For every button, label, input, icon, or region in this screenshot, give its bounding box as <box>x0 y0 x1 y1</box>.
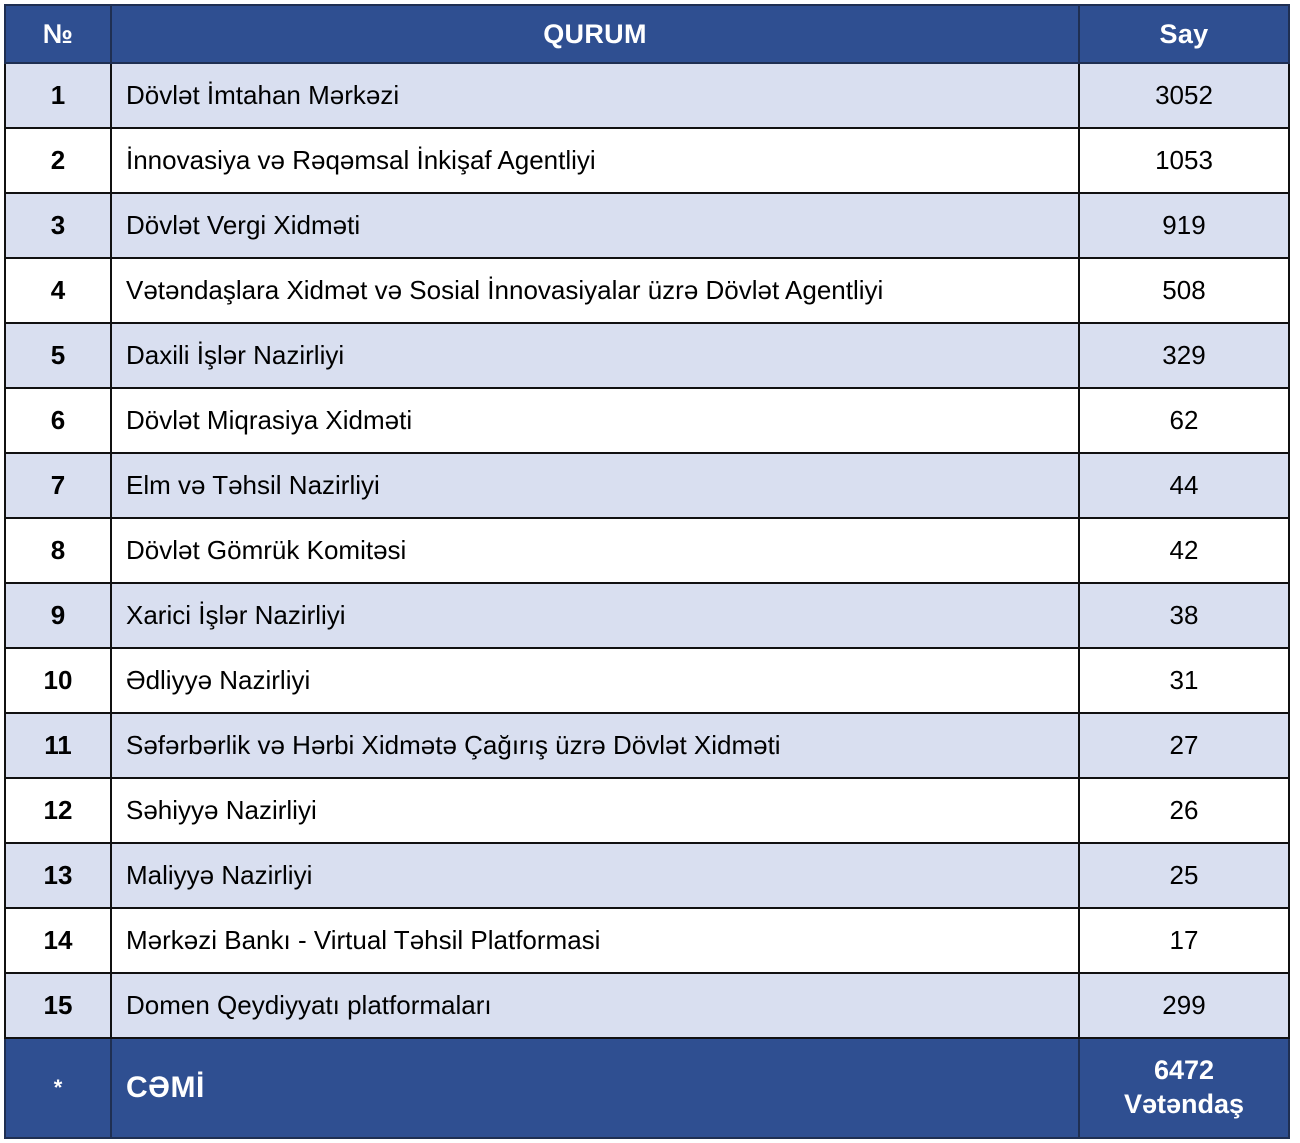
table-row: 15Domen Qeydiyyatı platformaları299 <box>5 973 1289 1038</box>
row-organization-name: Domen Qeydiyyatı platformaları <box>111 973 1079 1038</box>
table-row: 4Vətəndaşlara Xidmət və Sosial İnnovasiy… <box>5 258 1289 323</box>
table-footer: * CƏMİ 6472 Vətəndaş <box>5 1038 1289 1138</box>
row-number: 3 <box>5 193 111 258</box>
row-count: 31 <box>1079 648 1289 713</box>
row-count: 26 <box>1079 778 1289 843</box>
row-count: 27 <box>1079 713 1289 778</box>
table-container: № QURUM Say 1Dövlət İmtahan Mərkəzi30522… <box>0 0 1300 1143</box>
row-organization-name: Elm və Təhsil Nazirliyi <box>111 453 1079 518</box>
row-number: 14 <box>5 908 111 973</box>
table-row: 7Elm və Təhsil Nazirliyi44 <box>5 453 1289 518</box>
row-organization-name: İnnovasiya və Rəqəmsal İnkişaf Agentliyi <box>111 128 1079 193</box>
header-row: № QURUM Say <box>5 5 1289 63</box>
row-count: 38 <box>1079 583 1289 648</box>
row-count: 17 <box>1079 908 1289 973</box>
row-number: 10 <box>5 648 111 713</box>
table-row: 14Mərkəzi Bankı - Virtual Təhsil Platfor… <box>5 908 1289 973</box>
row-count: 299 <box>1079 973 1289 1038</box>
table-row: 3Dövlət Vergi Xidməti919 <box>5 193 1289 258</box>
organizations-table: № QURUM Say 1Dövlət İmtahan Mərkəzi30522… <box>4 4 1290 1139</box>
row-count: 25 <box>1079 843 1289 908</box>
row-count: 44 <box>1079 453 1289 518</box>
row-organization-name: Dövlət İmtahan Mərkəzi <box>111 63 1079 128</box>
row-organization-name: Dövlət Miqrasiya Xidməti <box>111 388 1079 453</box>
table-row: 5Daxili İşlər Nazirliyi329 <box>5 323 1289 388</box>
table-header: № QURUM Say <box>5 5 1289 63</box>
row-count: 62 <box>1079 388 1289 453</box>
total-value-unit: Vətəndaş <box>1081 1088 1287 1122</box>
row-number: 11 <box>5 713 111 778</box>
row-number: 5 <box>5 323 111 388</box>
table-row: 9Xarici İşlər Nazirliyi38 <box>5 583 1289 648</box>
row-organization-name: Maliyyə Nazirliyi <box>111 843 1079 908</box>
row-count: 329 <box>1079 323 1289 388</box>
row-count: 919 <box>1079 193 1289 258</box>
row-number: 12 <box>5 778 111 843</box>
row-organization-name: Ədliyyə Nazirliyi <box>111 648 1079 713</box>
row-number: 1 <box>5 63 111 128</box>
total-value-number: 6472 <box>1081 1054 1287 1088</box>
row-organization-name: Daxili İşlər Nazirliyi <box>111 323 1079 388</box>
table-row: 12Səhiyyə Nazirliyi26 <box>5 778 1289 843</box>
row-count: 42 <box>1079 518 1289 583</box>
row-number: 9 <box>5 583 111 648</box>
table-row: 13Maliyyə Nazirliyi25 <box>5 843 1289 908</box>
row-organization-name: Xarici İşlər Nazirliyi <box>111 583 1079 648</box>
row-count: 1053 <box>1079 128 1289 193</box>
table-row: 10Ədliyyə Nazirliyi31 <box>5 648 1289 713</box>
table-row: 11Səfərbərlik və Hərbi Xidmətə Çağırış ü… <box>5 713 1289 778</box>
row-number: 15 <box>5 973 111 1038</box>
table-row: 6Dövlət Miqrasiya Xidməti62 <box>5 388 1289 453</box>
row-organization-name: Səhiyyə Nazirliyi <box>111 778 1079 843</box>
row-organization-name: Mərkəzi Bankı - Virtual Təhsil Platforma… <box>111 908 1079 973</box>
header-no: № <box>5 5 111 63</box>
total-marker: * <box>5 1038 111 1138</box>
table-row: 2İnnovasiya və Rəqəmsal İnkişaf Agentliy… <box>5 128 1289 193</box>
header-say: Say <box>1079 5 1289 63</box>
row-number: 2 <box>5 128 111 193</box>
row-number: 13 <box>5 843 111 908</box>
table-row: 8Dövlət Gömrük Komitəsi42 <box>5 518 1289 583</box>
row-organization-name: Dövlət Gömrük Komitəsi <box>111 518 1079 583</box>
row-organization-name: Səfərbərlik və Hərbi Xidmətə Çağırış üzr… <box>111 713 1079 778</box>
row-number: 6 <box>5 388 111 453</box>
row-number: 7 <box>5 453 111 518</box>
total-label: CƏMİ <box>111 1038 1079 1138</box>
table-body: 1Dövlət İmtahan Mərkəzi30522İnnovasiya v… <box>5 63 1289 1038</box>
total-row: * CƏMİ 6472 Vətəndaş <box>5 1038 1289 1138</box>
header-qurum: QURUM <box>111 5 1079 63</box>
row-number: 8 <box>5 518 111 583</box>
table-row: 1Dövlət İmtahan Mərkəzi3052 <box>5 63 1289 128</box>
row-organization-name: Dövlət Vergi Xidməti <box>111 193 1079 258</box>
row-count: 3052 <box>1079 63 1289 128</box>
row-number: 4 <box>5 258 111 323</box>
row-organization-name: Vətəndaşlara Xidmət və Sosial İnnovasiya… <box>111 258 1079 323</box>
total-value: 6472 Vətəndaş <box>1079 1038 1289 1138</box>
row-count: 508 <box>1079 258 1289 323</box>
